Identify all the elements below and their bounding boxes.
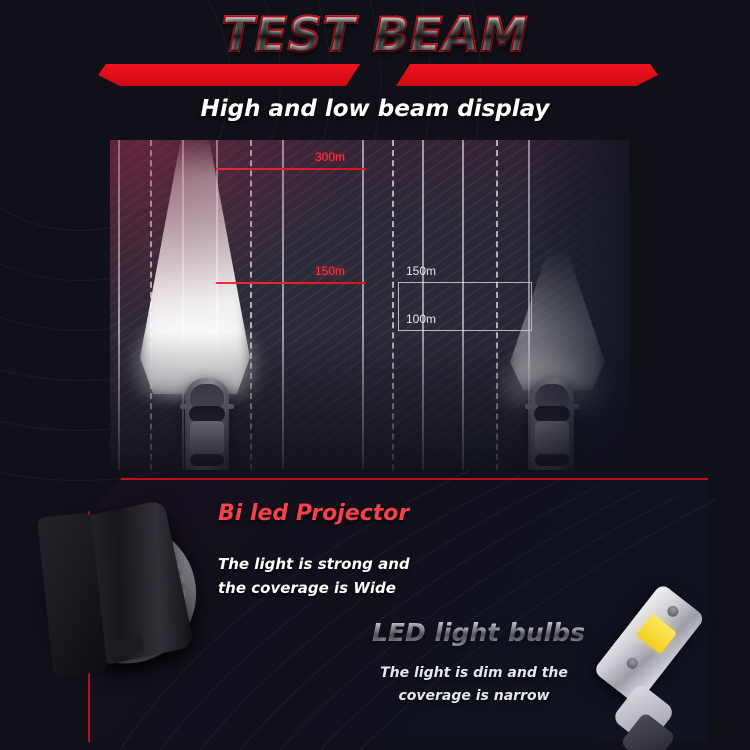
bi-led-projector-body: The light is strong and the coverage is … <box>218 552 418 600</box>
led-light-bulbs-body: The light is dim and the coverage is nar… <box>360 662 588 708</box>
beam-comparison-road: 300m 150m 150m 100m <box>110 140 630 470</box>
page-subtitle: High and low beam display <box>0 96 750 122</box>
bi-led-projector-image <box>22 488 234 697</box>
header: TEST BEAM TEST BEAM High and low beam di… <box>0 0 750 140</box>
page-title: TEST BEAM <box>0 8 750 63</box>
promo-banner: TEST BEAM TEST BEAM High and low beam di… <box>0 0 750 750</box>
banner-left <box>98 64 360 86</box>
led-light-bulbs-heading: LED light bulbs <box>372 618 585 647</box>
title-banner <box>98 64 658 86</box>
road-vignette <box>110 140 630 470</box>
bi-led-projector-heading: Bi led Projector <box>218 501 409 526</box>
banner-right <box>396 64 658 86</box>
